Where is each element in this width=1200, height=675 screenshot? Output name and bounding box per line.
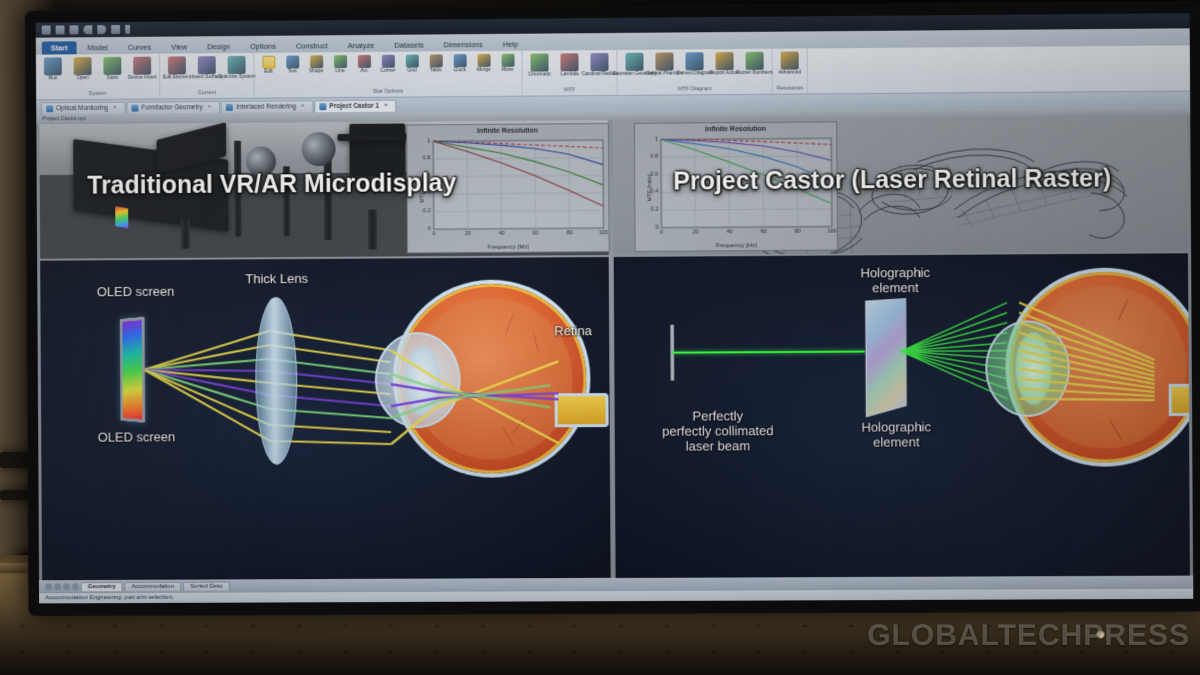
save-as-icon[interactable] <box>133 57 151 75</box>
bar-chart-icon[interactable] <box>530 54 548 72</box>
ribbon-group-resources: AdvancedResources <box>773 48 809 93</box>
help-icon[interactable] <box>781 52 799 70</box>
ribbon-button-label: Text <box>288 69 297 75</box>
sheet-tab-geometry[interactable]: Geometry <box>81 582 123 591</box>
close-icon[interactable]: × <box>384 103 388 109</box>
sheet-tab-sorted-desc[interactable]: Sorted Desc <box>183 581 230 590</box>
plot-x-tick: 80 <box>788 229 808 235</box>
label-holographic-bottom-l2: element <box>873 434 920 449</box>
ribbon-group-system: RunOpenSaveDevice InsertSystem <box>36 54 160 100</box>
ribbon-button-label: Report Action <box>710 71 740 77</box>
ribbon-group-title: Star Options <box>373 88 404 97</box>
diagram-icon[interactable] <box>685 52 703 70</box>
close-icon[interactable]: × <box>113 105 117 111</box>
ribbon-button-label: Move <box>501 68 513 74</box>
label-holographic-bottom: Holographic element <box>831 419 962 450</box>
panel-bottom-right[interactable]: Holographic element Holographic element … <box>614 253 1191 580</box>
ribbon-button-label: Device Insert <box>128 76 157 82</box>
ribbon-button-text[interactable]: Text <box>282 55 302 75</box>
ribbon-button-chromatic[interactable]: Chromatic <box>526 53 552 78</box>
title-top-left: Traditional VR/AR Microdisplay <box>87 169 456 201</box>
dropdown-icon[interactable] <box>125 25 130 34</box>
flag-icon[interactable] <box>560 53 578 71</box>
ribbon-tab-model[interactable]: Model <box>79 41 117 54</box>
plot-y-tick: 0.4 <box>639 189 658 195</box>
ribbon-group-title: Current <box>198 89 216 98</box>
ribbon-tab-curves[interactable]: Curves <box>119 41 161 54</box>
document-icon <box>46 105 53 112</box>
plot-y-tick: 0.8 <box>639 154 658 160</box>
document-tab-label: Project Castor 1 <box>329 102 379 109</box>
ribbon-group-current: Edit ElementInsert SurfaceOptimize Syste… <box>160 53 255 99</box>
document-icon <box>226 103 233 110</box>
label-laser-l2: perfectly collimated <box>662 423 774 439</box>
save-icon[interactable] <box>42 26 51 35</box>
monitor-screen: StartModelCurvesViewDesignOptionsConstru… <box>36 13 1193 603</box>
sheet-nav-last-icon[interactable] <box>72 583 79 590</box>
ribbon-button-gaussian-geometry[interactable]: Gaussian Geometry <box>621 53 647 78</box>
ribbon-button-label: Line <box>335 69 344 75</box>
ribbon-button-label: Shape <box>309 69 323 75</box>
document-tab-formfactor-geometry[interactable]: Formfactor Geometry× <box>126 100 220 113</box>
ribbon-tab-construct[interactable]: Construct <box>287 39 337 52</box>
ribbon-group-mtf-diagram: Gaussian GeometryOptical PhantomCurved D… <box>617 49 772 95</box>
arc-icon[interactable] <box>357 55 370 68</box>
ribbon-tab-help[interactable]: Help <box>494 38 527 51</box>
ribbon-group-mtf: ChromaticLambdaCardinal RadiusMTF <box>522 50 617 96</box>
print-icon[interactable] <box>69 25 78 34</box>
ribbon-button-move[interactable]: Move <box>498 54 518 74</box>
ribbon-button-label: Arc <box>360 69 368 75</box>
rect-icon[interactable] <box>310 55 323 68</box>
slide-canvas[interactable]: Project Castor.opt <box>36 107 1193 581</box>
bench-lens-2 <box>302 132 336 166</box>
ribbon-button-curved-diagram[interactable]: Curved Diagram <box>681 52 707 77</box>
ribbon-group-title: Resources <box>777 85 803 94</box>
ribbon-button-arc[interactable]: Arc <box>354 55 374 75</box>
insert-icon[interactable] <box>198 56 216 74</box>
ribbon-tab-design[interactable]: Design <box>198 40 239 53</box>
display-chip <box>115 206 128 228</box>
plot-x-tick: 0 <box>652 230 672 236</box>
document-tab-interlaced-rendering[interactable]: Interlaced Rendering× <box>221 100 313 113</box>
document-tab-optical-monitoring[interactable]: Optical Monitoring× <box>41 101 125 114</box>
ribbon-button-advanced[interactable]: Advanced <box>777 51 803 76</box>
ribbon-button-optical-phantom[interactable]: Optical Phantom <box>651 52 677 77</box>
plot-y-tick: 0 <box>412 226 431 232</box>
plot-x-tick: 80 <box>560 230 580 236</box>
redo-icon[interactable] <box>97 25 106 34</box>
ribbon-button-corner[interactable]: Corner <box>378 55 398 75</box>
label-laser-beam: Perfectly perfectly collimated laser bea… <box>623 408 814 454</box>
press-watermark: GLOBALTECHPRESS <box>867 619 1190 653</box>
plot-x-tick: 100 <box>594 230 614 236</box>
label-holographic-top: Holographic element <box>830 265 961 296</box>
slash-icon[interactable] <box>334 55 347 68</box>
customize-icon[interactable] <box>111 25 120 34</box>
ribbon-button-label: Lambda <box>561 72 579 78</box>
ribbon-tab-datasets[interactable]: Datasets <box>385 38 433 51</box>
label-laser-l1: Perfectly <box>692 408 743 423</box>
document-icon <box>319 103 326 110</box>
document-tab-label: Formfactor Geometry <box>141 104 202 111</box>
sheet-nav-prev-icon[interactable] <box>54 583 61 590</box>
ribbon-group-title: MTF <box>564 86 575 95</box>
plot-x-tick: 20 <box>686 229 706 235</box>
ribbon-button-device-insert[interactable]: Device Insert <box>129 57 155 82</box>
bench-post-5 <box>368 210 377 250</box>
clock-icon[interactable] <box>453 54 466 67</box>
corner-icon[interactable] <box>381 55 394 68</box>
ribbon-button-label: Optimize System <box>218 75 256 81</box>
line-icon[interactable] <box>286 55 299 68</box>
bench-post-4 <box>181 219 190 249</box>
plot-y-tick: 0.8 <box>411 155 430 161</box>
intraocular-rays-left <box>40 257 611 580</box>
ribbon-tab-view[interactable]: View <box>162 40 196 53</box>
ribbon-button-table[interactable]: Table <box>426 54 446 74</box>
label-laser-l3: laser beam <box>686 438 750 453</box>
undo-icon[interactable] <box>83 25 92 34</box>
ribbon-button-label: Save <box>107 76 118 82</box>
ribbon-button-lambda[interactable]: Lambda <box>556 53 582 78</box>
ribbon-button-save[interactable]: Save <box>99 57 125 82</box>
save-icon[interactable] <box>103 57 121 75</box>
ribbon-button-insert-surface[interactable]: Insert Surface <box>194 56 220 81</box>
ribbon-button-report-action[interactable]: Report Action <box>711 52 737 77</box>
ribbon-tab-start[interactable]: Start <box>42 41 77 54</box>
plot-y-tick: 1 <box>411 138 430 144</box>
ribbon-button-optimize-system[interactable]: Optimize System <box>224 56 250 81</box>
ribbon-button-label: Edit <box>264 70 273 76</box>
ribbon-button-edit-element[interactable]: Edit Element <box>164 56 190 81</box>
ribbon-button-label: Chromatic <box>528 72 551 78</box>
ribbon-button-label: Footer Numbers <box>737 71 773 77</box>
plot-y-tick: 0.2 <box>639 207 658 213</box>
line-chart-icon[interactable] <box>590 53 608 71</box>
sheet-tab-accommodation[interactable]: Accommodation <box>124 581 181 590</box>
ribbon-button-shape[interactable]: Shape <box>306 55 326 75</box>
label-oled-bottom: OLED screen <box>77 429 196 445</box>
label-thick-lens: Thick Lens <box>217 271 336 287</box>
ribbon-button-edit[interactable]: Edit <box>258 56 278 76</box>
cad-application-window: StartModelCurvesViewDesignOptionsConstru… <box>36 13 1193 603</box>
optical-icon[interactable] <box>655 53 673 71</box>
plot-x-tick: 40 <box>492 231 512 237</box>
ribbon-group-star-options: EditTextShapeLineArcCornerGridTableClock… <box>254 51 522 98</box>
ribbon-button-label: Run <box>48 76 57 82</box>
ribbon-button-footer-numbers[interactable]: Footer Numbers <box>742 52 768 77</box>
panel-bottom-left[interactable]: OLED screen OLED screen Thick Lens Retin… <box>40 257 611 580</box>
open-icon[interactable] <box>56 25 65 34</box>
edit-icon[interactable] <box>168 56 186 74</box>
ribbon-tab-dimensions[interactable]: Dimensions <box>435 38 492 51</box>
plot-x-tick: 40 <box>720 229 740 235</box>
title-top-right: Project Castor (Laser Retinal Raster) <box>673 164 1111 196</box>
grid-icon[interactable] <box>405 55 418 68</box>
ribbon-button-grid[interactable]: Grid <box>402 55 422 75</box>
ribbon-group-title: System <box>89 90 107 99</box>
sheet-nav-first-icon[interactable] <box>45 583 52 590</box>
bench-plate-rear <box>349 124 405 176</box>
ribbon-button-clock[interactable]: Clock <box>450 54 470 74</box>
plot-y-tick: 1 <box>639 136 658 142</box>
close-icon[interactable]: × <box>301 103 305 109</box>
close-icon[interactable]: × <box>208 104 212 110</box>
label-holographic-bottom-l1: Holographic <box>861 419 931 434</box>
ribbon-button-label: Advanced <box>779 71 801 77</box>
merge-icon[interactable] <box>477 54 490 67</box>
ribbon-button-label: Curved Diagram <box>676 71 712 77</box>
plot-y-tick: 0.2 <box>412 208 431 214</box>
report-icon[interactable] <box>715 52 733 70</box>
table-icon[interactable] <box>429 54 442 67</box>
ribbon-button-label: Clock <box>453 68 466 74</box>
geometry-icon[interactable] <box>625 53 643 71</box>
monitor-bezel: StartModelCurvesViewDesignOptionsConstru… <box>25 1 1200 616</box>
document-tab-label: Interlaced Rendering <box>236 103 296 110</box>
plot-x-tick: 60 <box>754 229 774 235</box>
ribbon-button-label: Merge <box>477 68 491 74</box>
footer-icon[interactable] <box>746 52 764 70</box>
plot-x-tick: 100 <box>822 228 842 234</box>
ribbon-button-label: Grid <box>407 69 416 75</box>
move-icon[interactable] <box>501 54 514 67</box>
ribbon-button-line[interactable]: Line <box>330 55 350 75</box>
document-tab-label: Optical Monitoring <box>56 104 108 111</box>
ribbon-button-open[interactable]: Open <box>70 57 96 82</box>
pen-highlight-icon[interactable] <box>262 56 275 69</box>
ribbon-button-label: Corner <box>380 69 395 75</box>
ribbon-button-merge[interactable]: Merge <box>474 54 494 74</box>
label-oled-top: OLED screen <box>76 284 195 300</box>
ribbon-tab-options[interactable]: Options <box>241 40 285 53</box>
plot-x-tick: 20 <box>458 231 478 237</box>
plot-x-tick: 60 <box>526 230 546 236</box>
ribbon-tab-analyze[interactable]: Analyze <box>339 39 384 52</box>
ribbon-button-label: Open <box>77 76 89 82</box>
folder-icon[interactable] <box>74 57 92 75</box>
document-tab-project-castor-1[interactable]: Project Castor 1× <box>314 99 396 112</box>
ribbon-button-cardinal-radius[interactable]: Cardinal Radius <box>586 53 612 78</box>
document-icon <box>131 104 138 111</box>
ribbon-button-label: Edit Element <box>163 75 191 81</box>
plot-y-tick: 0.6 <box>639 171 658 177</box>
label-holographic-top-l1: Holographic <box>860 265 930 280</box>
ribbon-group-title: MTF Diagram <box>678 85 712 94</box>
ribbon-button-run[interactable]: Run <box>40 57 66 82</box>
plot-x-tick: 0 <box>424 231 444 237</box>
label-holographic-top-l2: element <box>872 280 919 295</box>
optimize-icon[interactable] <box>228 56 246 74</box>
plot-y-tick: 0 <box>639 224 658 230</box>
label-retina: Retina <box>538 323 608 338</box>
sheet-nav-next-icon[interactable] <box>63 583 70 590</box>
run-icon[interactable] <box>44 57 62 75</box>
ribbon-button-label: Table <box>430 68 442 74</box>
